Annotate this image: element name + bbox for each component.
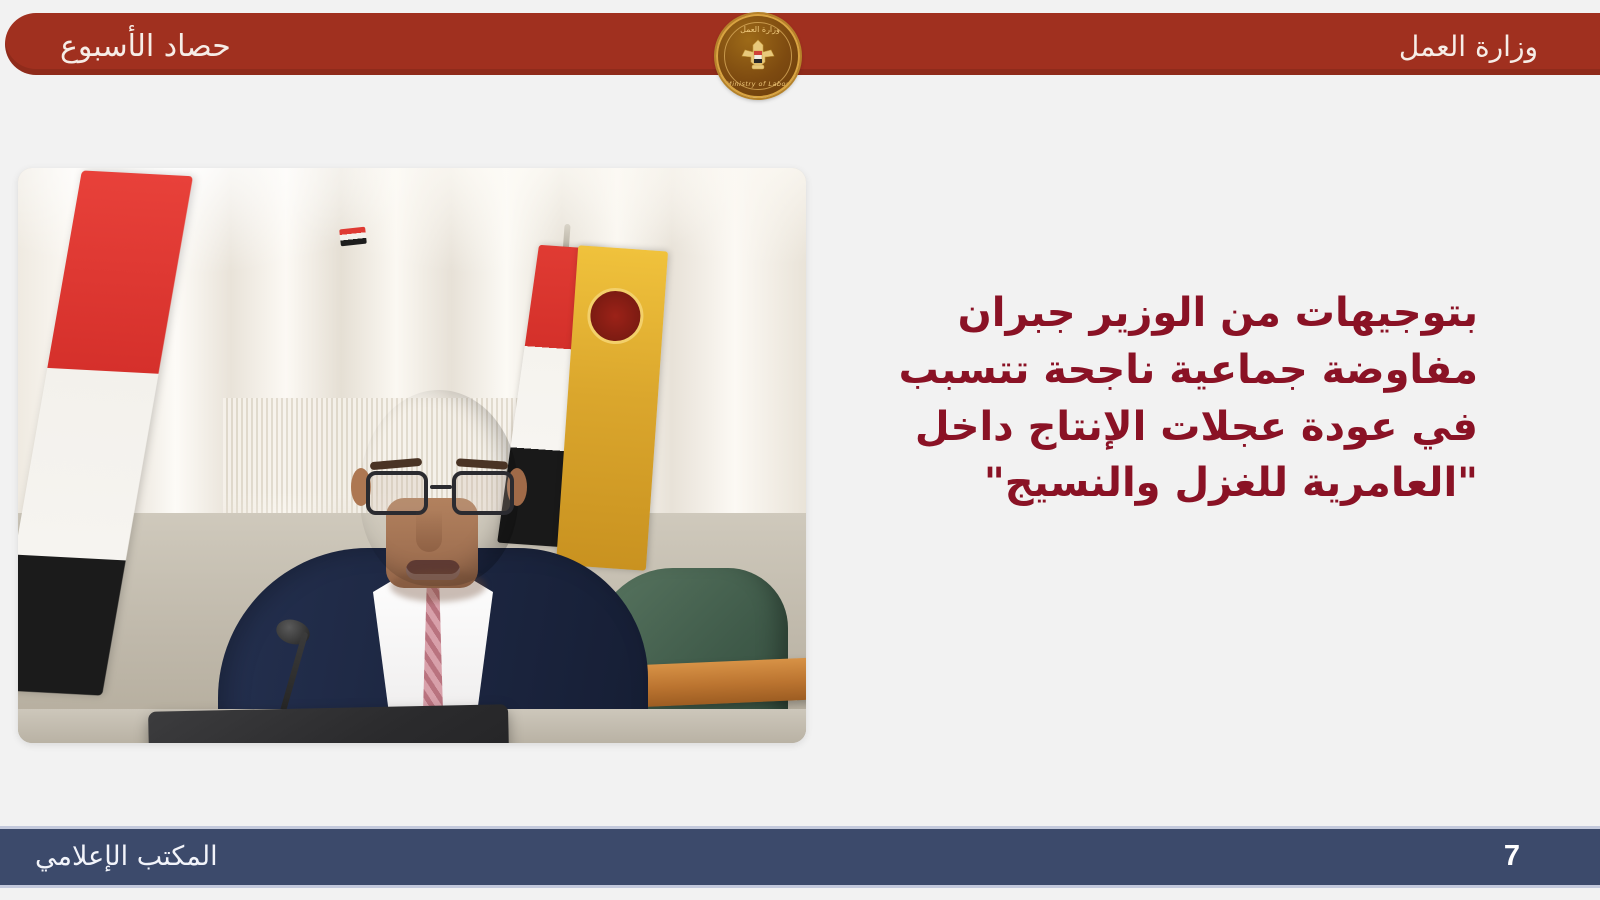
weekly-digest-label: حصاد الأسبوع <box>60 29 231 64</box>
dell-laptop: DELL <box>148 704 512 743</box>
eyeglass-lens-right <box>452 471 514 515</box>
eagle-of-saladin-icon <box>741 38 775 74</box>
eyeglass-lens-left <box>366 471 428 515</box>
photo-scene: DELL <box>18 168 806 743</box>
media-office-label: المكتب الإعلامي <box>35 841 218 872</box>
page-number: 7 <box>1504 840 1520 873</box>
news-photo: DELL <box>18 168 806 743</box>
ministry-name-label: وزارة العمل <box>1399 30 1538 63</box>
banner-emblem-icon <box>586 286 646 346</box>
footer-bar: المكتب الإعلامي 7 <box>0 826 1600 888</box>
person-chin-shadow <box>390 570 486 602</box>
flag-lapel-pin-icon <box>339 227 367 247</box>
ministry-seal-icon: وزارة العمل Ministry of Labour <box>716 14 800 98</box>
header-bar: حصاد الأسبوع وزارة العمل <box>5 13 1600 75</box>
headline-text: بتوجيهات من الوزير جبران مفاوضة جماعية ن… <box>830 285 1478 512</box>
seal-arabic-text: وزارة العمل <box>718 25 800 34</box>
eyeglass-bridge <box>430 485 452 489</box>
person-nose <box>416 510 442 552</box>
seal-english-text: Ministry of Labour <box>718 80 800 88</box>
